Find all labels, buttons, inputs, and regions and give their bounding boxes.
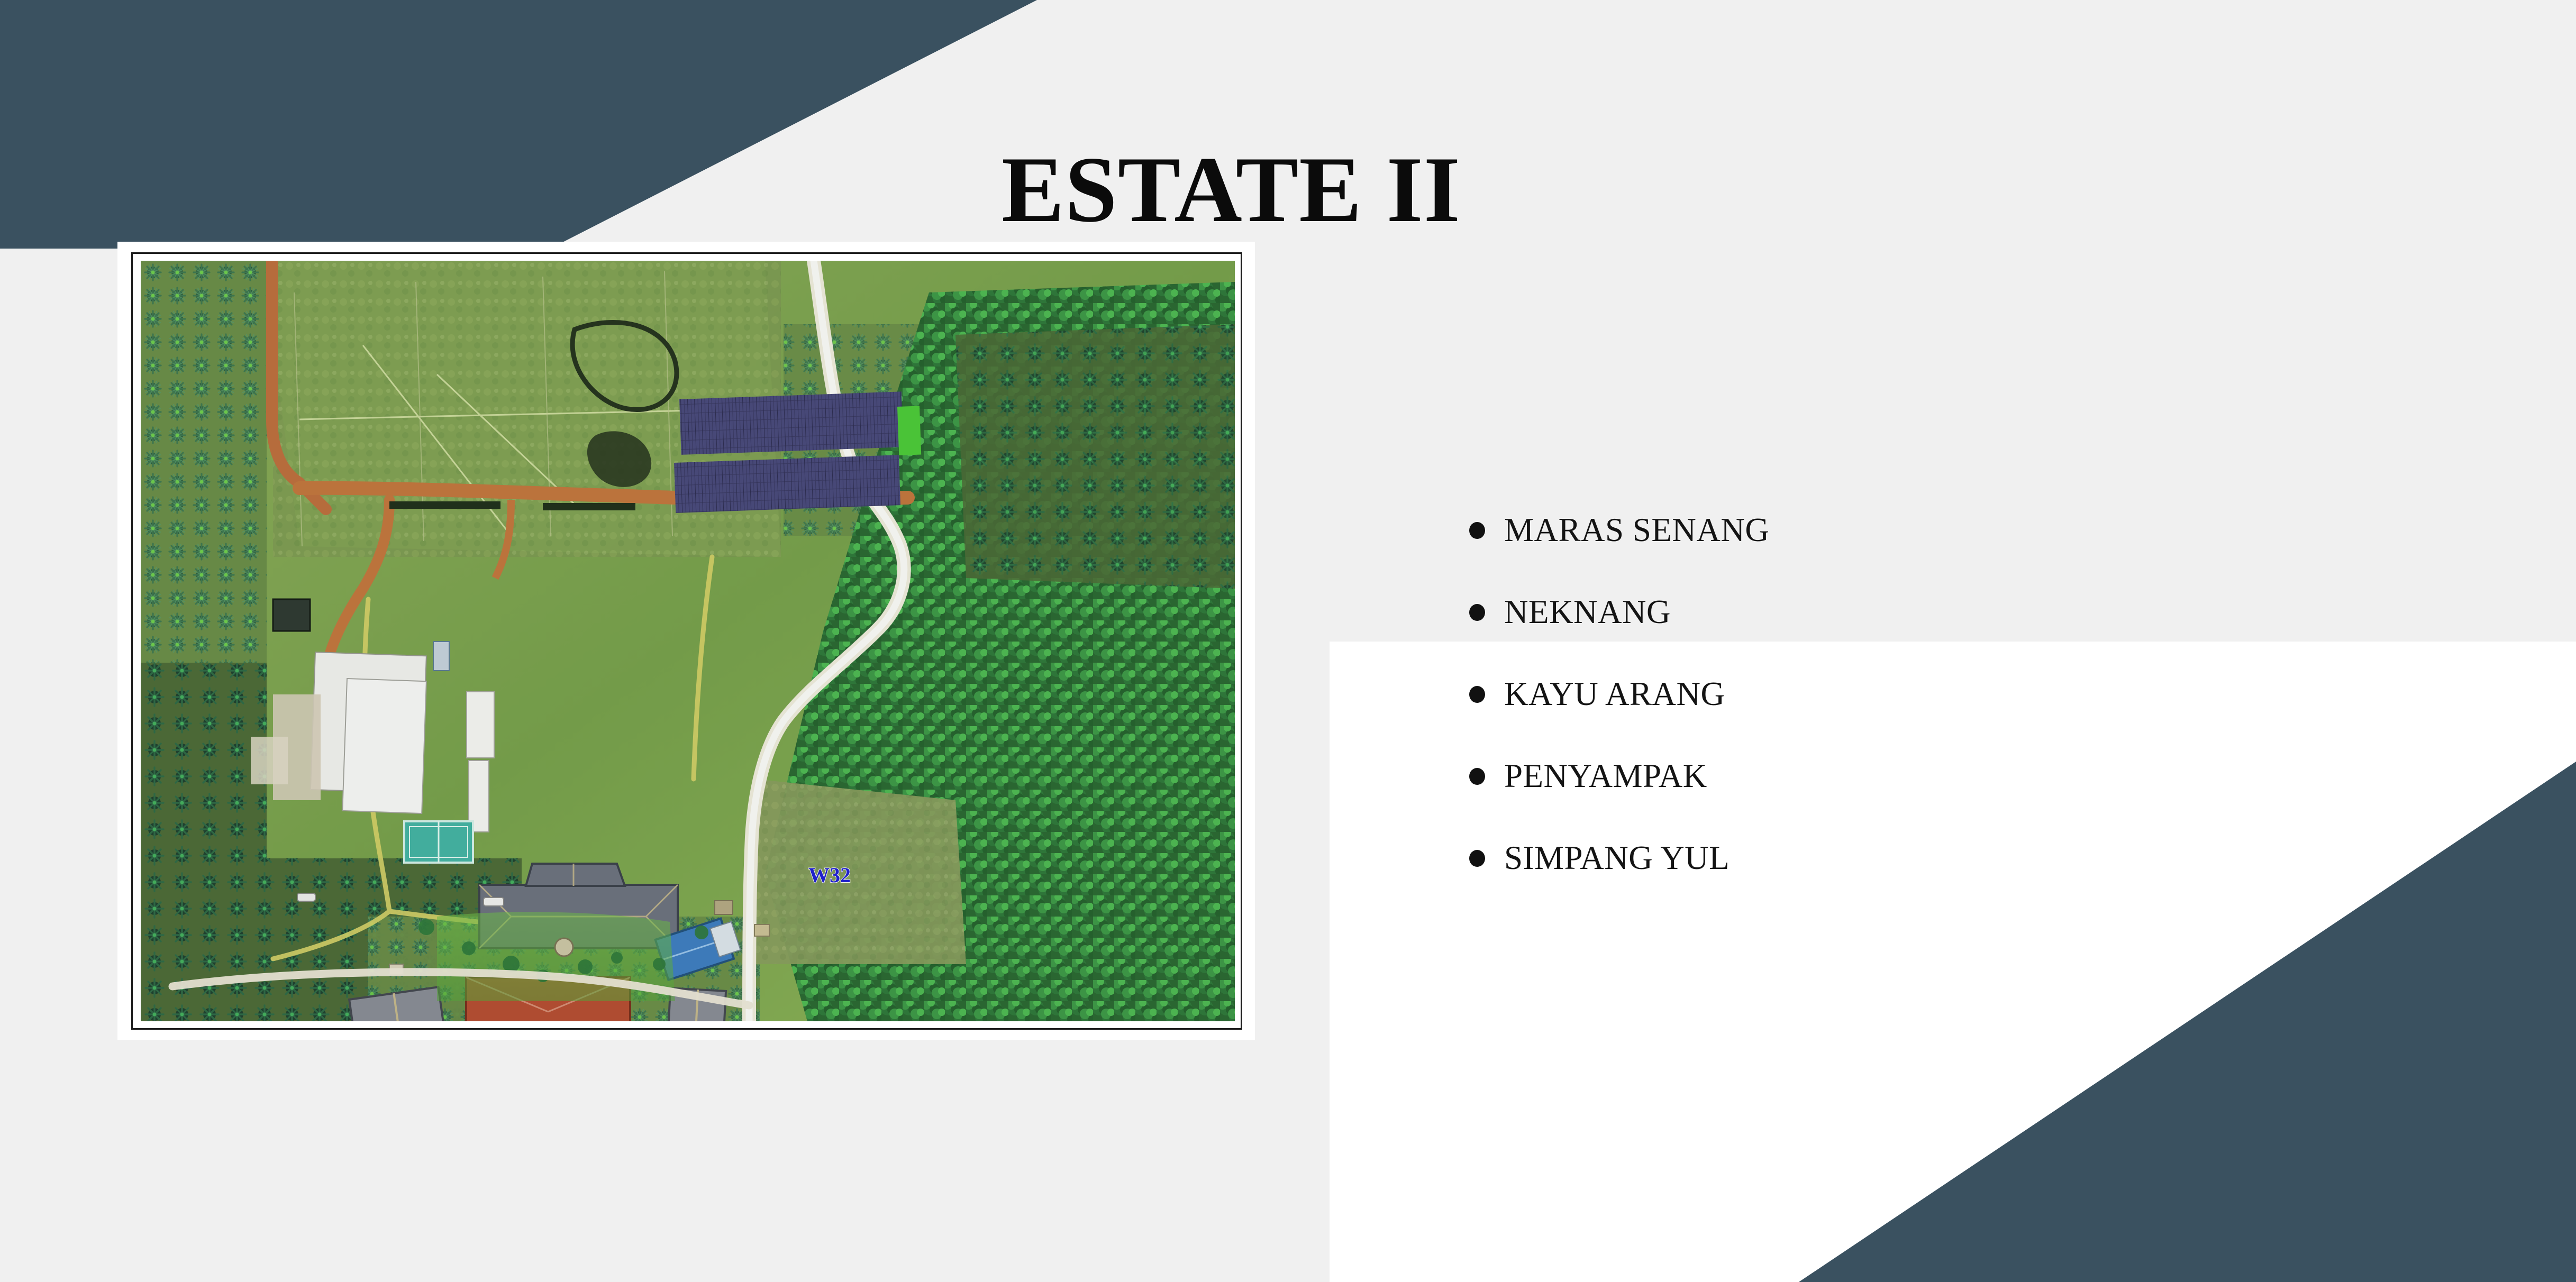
- list-item[interactable]: NEKNANG: [1469, 571, 2369, 653]
- list-item[interactable]: KAYU ARANG: [1469, 653, 2369, 735]
- list-item[interactable]: PENYAMPAK: [1469, 735, 2369, 817]
- list-item-label: SIMPANG YUL: [1504, 839, 1730, 876]
- list-item-label: NEKNANG: [1504, 593, 1671, 630]
- list-item[interactable]: MARAS SENANG: [1469, 489, 2369, 571]
- photo-frame: W32: [117, 242, 1255, 1040]
- photo-inner-border: W32: [131, 252, 1242, 1030]
- bullet-icon: [1469, 604, 1485, 621]
- list-item-label: PENYAMPAK: [1504, 757, 1707, 794]
- list-item-label: KAYU ARANG: [1504, 675, 1725, 712]
- bullet-icon: [1469, 850, 1485, 867]
- bullet-icon: [1469, 686, 1485, 703]
- bullet-icon: [1469, 768, 1485, 785]
- list-item[interactable]: SIMPANG YUL: [1469, 817, 2369, 899]
- bullet-icon: [1469, 522, 1485, 539]
- page-title: ESTATE II: [1002, 142, 1461, 236]
- estate-list: MARAS SENANG NEKNANG KAYU ARANG PENYAMPA…: [1469, 489, 2369, 899]
- list-item-label: MARAS SENANG: [1504, 511, 1769, 548]
- aerial-orthophoto-image: W32: [141, 261, 1235, 1021]
